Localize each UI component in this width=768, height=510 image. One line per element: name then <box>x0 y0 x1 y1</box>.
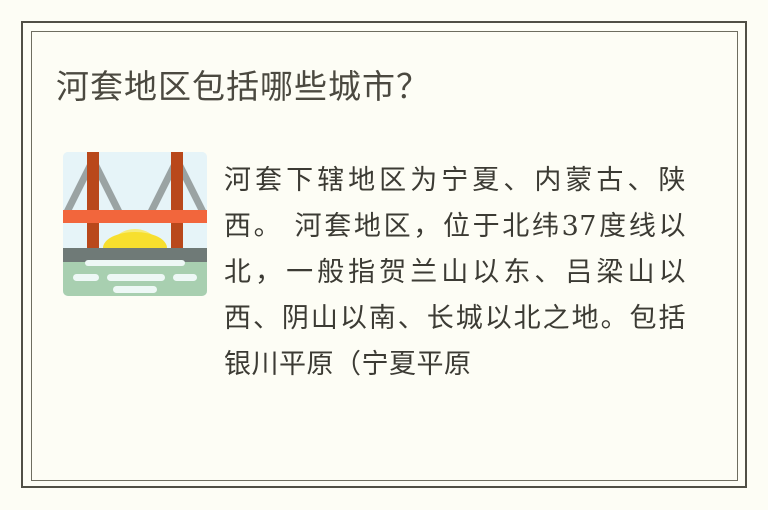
page-title: 河套地区包括哪些城市？ <box>56 64 430 110</box>
article-thumbnail[interactable] <box>63 152 207 296</box>
bridge-sunset-icon <box>63 152 207 296</box>
article-body-text: 河套下辖地区为宁夏、内蒙古、陕西。 河套地区，位于北纬37度线以北，一般指贺兰山… <box>224 158 686 388</box>
page-root: 河套地区包括哪些城市？ <box>0 0 768 510</box>
article-body: 河套下辖地区为宁夏、内蒙古、陕西。 河套地区，位于北纬37度线以北，一般指贺兰山… <box>56 150 686 400</box>
